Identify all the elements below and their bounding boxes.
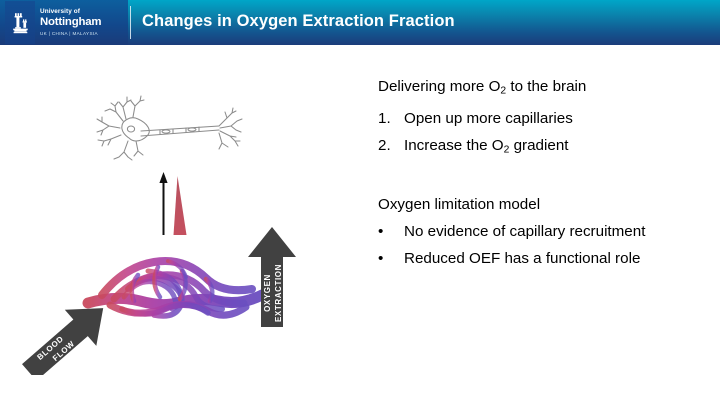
oxygen-uptake-arrow	[159, 172, 167, 235]
brand-line-campuses: UK | CHINA | MALAYSIA	[40, 30, 124, 37]
capillary-network	[88, 261, 262, 316]
block1-heading-post: to the brain	[506, 78, 586, 95]
oxygen-extraction-label-line2: EXTRACTION	[274, 264, 283, 322]
list-item: • No evidence of capillary recruitment	[378, 218, 708, 245]
page-title: Changes in Oxygen Extraction Fraction	[142, 12, 455, 31]
slide-body: BLOOD FLOW OXYGEN EXTRACTION Delivering …	[0, 45, 720, 405]
crest-panel	[5, 1, 35, 44]
block1-heading: Delivering more O2 to the brain	[378, 73, 708, 105]
list-item-label: No evidence of capillary recruitment	[404, 218, 645, 245]
list-item-label: Open up more capillaries	[404, 105, 573, 132]
oxygen-gradient-wedge	[174, 176, 187, 235]
list-marker: •	[378, 245, 404, 272]
list-item: 1. Open up more capillaries	[378, 105, 708, 132]
oxygen-extraction-arrow[interactable]: OXYGEN EXTRACTION	[248, 227, 296, 327]
block2-heading: Oxygen limitation model	[378, 191, 708, 218]
list-item: 2. Increase the O2 gradient	[378, 132, 708, 164]
block1-heading-pre: Delivering more O	[378, 78, 500, 95]
list-item-label-post: gradient	[509, 137, 568, 154]
list-item: • Reduced OEF has a functional role	[378, 245, 708, 272]
list-item-label: Reduced OEF has a functional role	[404, 245, 640, 272]
neuron-illustration	[97, 96, 242, 160]
university-brand-text: University of Nottingham UK | CHINA | MA…	[40, 8, 124, 37]
list-marker: •	[378, 218, 404, 245]
castle-tower-crest-icon	[12, 11, 29, 35]
university-brand-block: University of Nottingham UK | CHINA | MA…	[0, 0, 128, 45]
list-item-label: Increase the O2 gradient	[404, 132, 568, 164]
slide-header: University of Nottingham UK | CHINA | MA…	[0, 0, 720, 45]
oxygen-extraction-label-line1: OXYGEN	[263, 274, 272, 312]
list-marker: 2.	[378, 132, 404, 159]
oxygen-extraction-capillary-diagram: BLOOD FLOW OXYGEN EXTRACTION	[10, 75, 340, 375]
brand-divider	[130, 6, 131, 39]
list-item-label-pre: Increase the O	[404, 137, 504, 154]
content-block-gap	[378, 163, 708, 191]
brand-line-nottingham: Nottingham	[40, 16, 124, 29]
list-marker: 1.	[378, 105, 404, 132]
content-text-column: Delivering more O2 to the brain 1. Open …	[378, 73, 708, 272]
